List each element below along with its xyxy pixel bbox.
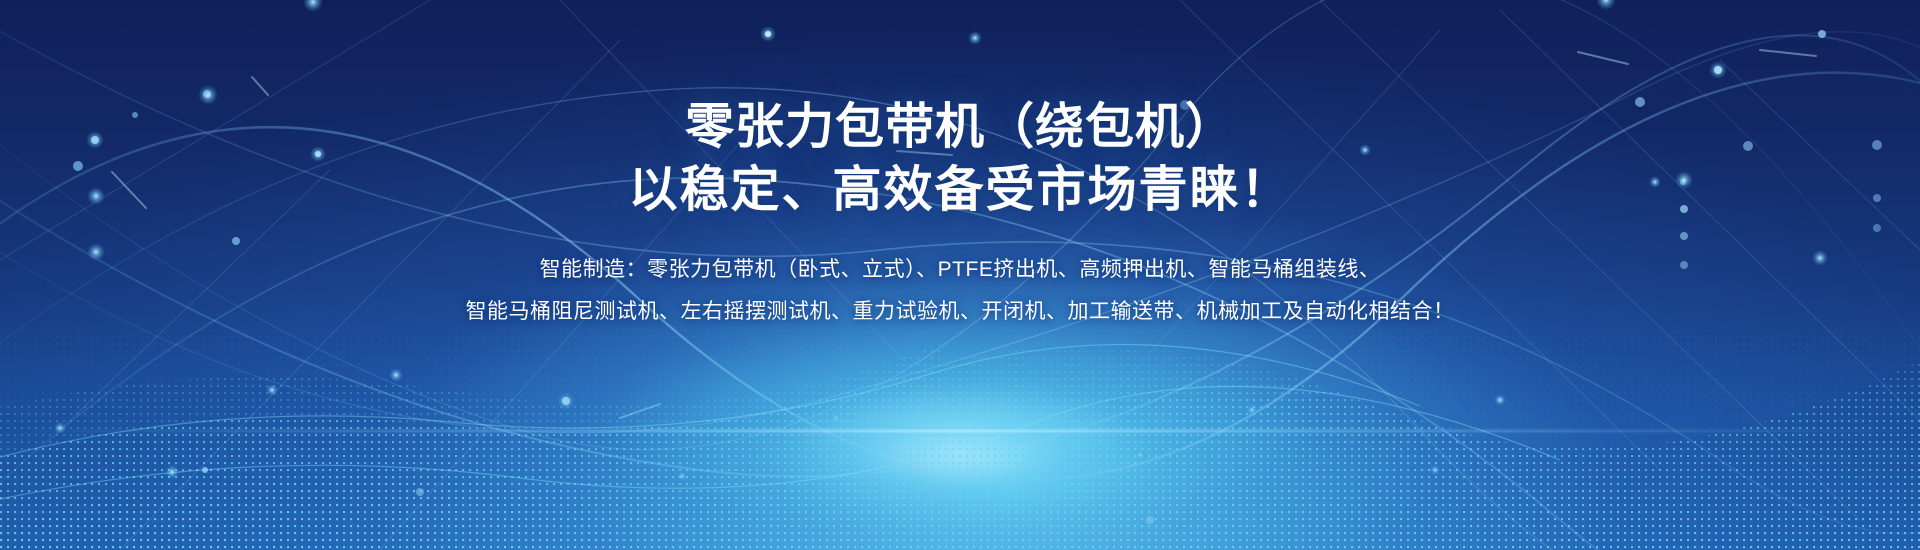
subtitle-line-2: 智能马桶阻尼测试机、左右摇摆测试机、重力试验机、开闭机、加工输送带、机械加工及自… (466, 291, 1455, 333)
headline-line-1: 零张力包带机（绕包机） (685, 96, 1235, 159)
hero-banner: 零张力包带机（绕包机） 以稳定、高效备受市场青睐！ 智能制造：零张力包带机（卧式… (0, 0, 1920, 550)
subtitle-line-1: 智能制造：零张力包带机（卧式、立式）、PTFE挤出机、高频押出机、智能马桶组装线… (540, 249, 1381, 291)
banner-text-block: 零张力包带机（绕包机） 以稳定、高效备受市场青睐！ 智能制造：零张力包带机（卧式… (0, 0, 1920, 550)
headline-line-2: 以稳定、高效备受市场青睐！ (628, 159, 1291, 222)
